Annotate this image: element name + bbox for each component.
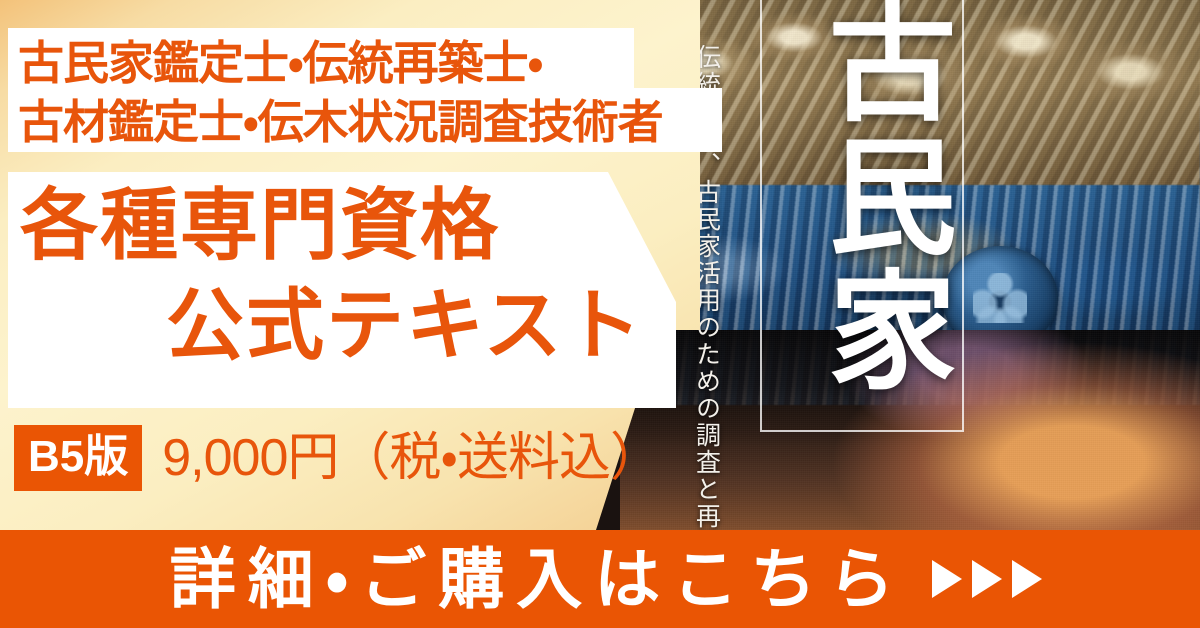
chevron-right-icon [932, 560, 962, 598]
price-text: 9,000円（税・送料込） [162, 432, 661, 484]
headline-line-1: 各種専門資格 [20, 186, 500, 264]
format-badge: B5版 [14, 425, 142, 491]
promo-banner[interactable]: 伝統構法、古民家活用のための調査と再生の 古民家 古民家鑑定士・伝統再築士・ 古… [0, 0, 1200, 628]
cta-bar[interactable]: 詳細・ご購入はこちら [0, 530, 1200, 628]
chevron-right-icon [1012, 560, 1042, 598]
qualifications-text: 古民家鑑定士・伝統再築士・ 古材鑑定士・伝木状況調査技術者 [18, 34, 718, 152]
cta-arrows [932, 560, 1042, 598]
chevron-right-icon [972, 560, 1002, 598]
price-row: B5版 9,000円（税・送料込） [14, 425, 661, 491]
cta-label: 詳細・ご購入はこちら [158, 546, 906, 612]
headline-line-2: 公式テキスト [166, 286, 644, 364]
cover-title: 古民家 [772, 0, 948, 398]
